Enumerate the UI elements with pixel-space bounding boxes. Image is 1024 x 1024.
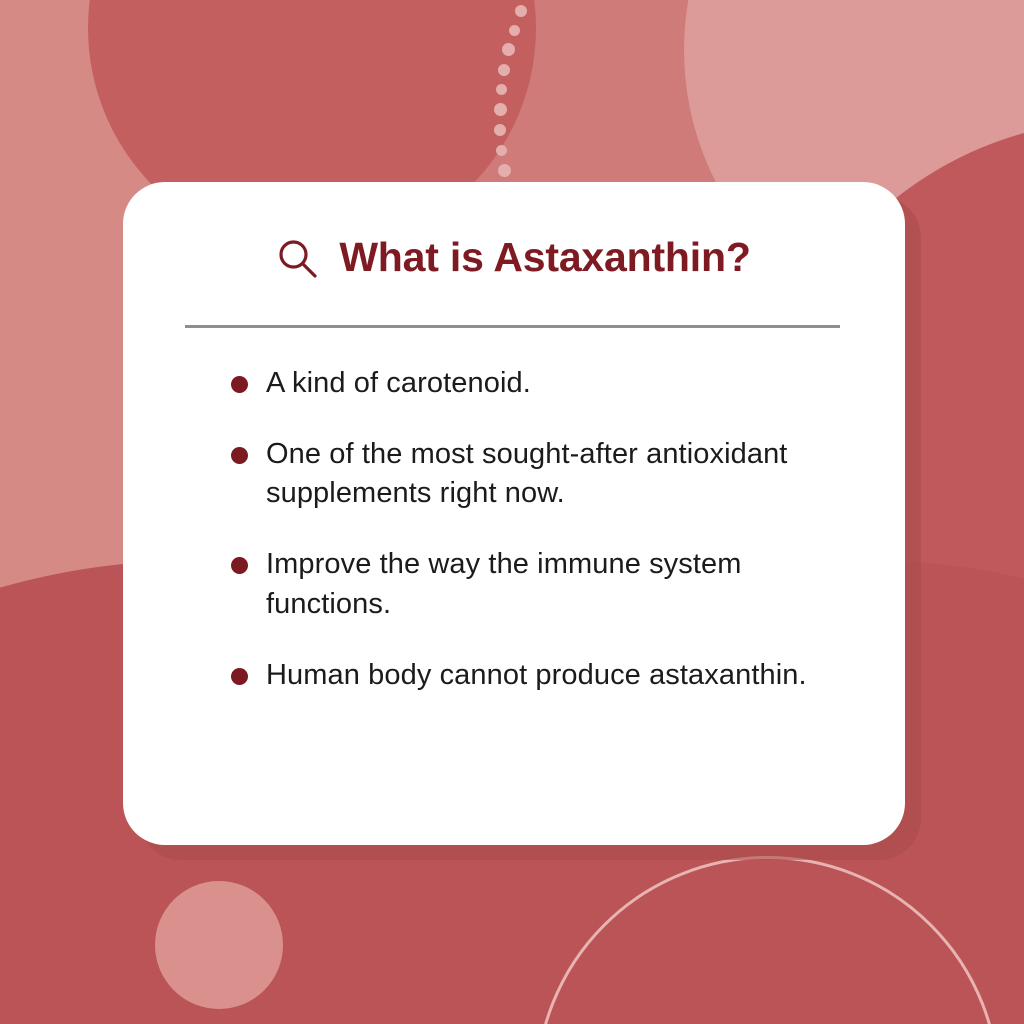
bullet-dot-icon bbox=[231, 447, 248, 464]
decorative-dot bbox=[494, 103, 507, 116]
bullet-list: A kind of carotenoid. One of the most so… bbox=[231, 364, 871, 727]
list-item: A kind of carotenoid. bbox=[231, 364, 871, 403]
decorative-circle-bottom-pink bbox=[155, 881, 283, 1009]
list-item-label: A kind of carotenoid. bbox=[266, 364, 531, 403]
poster-canvas: What is Astaxanthin? A kind of carotenoi… bbox=[0, 0, 1024, 1024]
bullet-dot-icon bbox=[231, 557, 248, 574]
bullet-dot-icon bbox=[231, 376, 248, 393]
bullet-dot-icon bbox=[231, 668, 248, 685]
card-title-row: What is Astaxanthin? bbox=[123, 234, 905, 280]
search-icon bbox=[277, 238, 319, 280]
list-item-label: Human body cannot produce astaxanthin. bbox=[266, 656, 807, 695]
decorative-dot bbox=[496, 145, 507, 156]
list-item: Improve the way the immune system functi… bbox=[231, 545, 871, 623]
list-item-label: One of the most sought-after antioxidant… bbox=[266, 435, 871, 513]
decorative-dot bbox=[498, 164, 511, 177]
list-item: Human body cannot produce astaxanthin. bbox=[231, 656, 871, 695]
list-item: One of the most sought-after antioxidant… bbox=[231, 435, 871, 513]
title-divider bbox=[185, 325, 840, 328]
page-title: What is Astaxanthin? bbox=[339, 237, 750, 278]
content-card: What is Astaxanthin? A kind of carotenoi… bbox=[123, 182, 905, 845]
list-item-label: Improve the way the immune system functi… bbox=[266, 545, 871, 623]
decorative-dot bbox=[509, 25, 520, 36]
card-inner: What is Astaxanthin? A kind of carotenoi… bbox=[123, 182, 905, 845]
decorative-dot bbox=[498, 64, 510, 76]
